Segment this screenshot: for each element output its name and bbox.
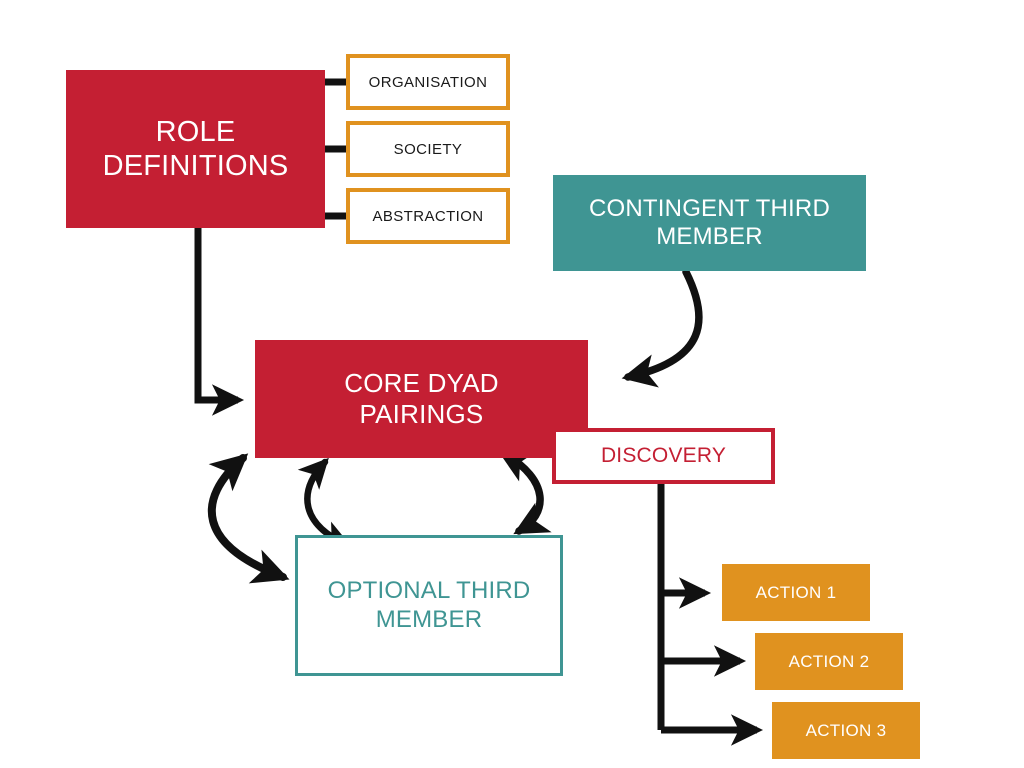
node-contingent-third-member[interactable]: CONTINGENT THIRD MEMBER — [553, 175, 866, 271]
node-action-2[interactable]: ACTION 2 — [755, 633, 903, 690]
node-sub-abstraction-label: ABSTRACTION — [372, 208, 483, 225]
node-optional-third-member[interactable]: OPTIONAL THIRD MEMBER — [295, 535, 563, 676]
connector-core-dyad-to-optional-middle — [307, 462, 347, 545]
connector-role-to-core-dyad — [198, 228, 238, 400]
node-contingent-third-member-label: CONTINGENT THIRD MEMBER — [589, 195, 830, 252]
node-action-1[interactable]: ACTION 1 — [722, 564, 870, 621]
node-core-dyad-pairings-label: CORE DYAD PAIRINGS — [344, 368, 498, 429]
node-sub-organisation[interactable]: ORGANISATION — [346, 54, 510, 110]
node-role-definitions[interactable]: ROLE DEFINITIONS — [66, 70, 325, 228]
node-sub-organisation-label: ORGANISATION — [369, 74, 488, 91]
node-action-1-label: ACTION 1 — [756, 583, 837, 603]
node-discovery[interactable]: DISCOVERY — [552, 428, 775, 484]
node-action-2-label: ACTION 2 — [789, 652, 870, 672]
node-sub-society[interactable]: SOCIETY — [346, 121, 510, 177]
node-action-3[interactable]: ACTION 3 — [772, 702, 920, 759]
connector-core-dyad-to-optional-right — [503, 453, 540, 531]
node-sub-society-label: SOCIETY — [394, 141, 463, 158]
node-role-definitions-label: ROLE DEFINITIONS — [103, 115, 289, 183]
connector-contingent-to-core-dyad — [628, 272, 699, 377]
node-sub-abstraction[interactable]: ABSTRACTION — [346, 188, 510, 244]
node-discovery-label: DISCOVERY — [601, 444, 726, 469]
node-action-3-label: ACTION 3 — [806, 721, 887, 741]
connector-core-dyad-to-optional-left — [212, 458, 283, 577]
node-optional-third-member-label: OPTIONAL THIRD MEMBER — [328, 577, 531, 634]
node-core-dyad-pairings[interactable]: CORE DYAD PAIRINGS — [255, 340, 588, 458]
